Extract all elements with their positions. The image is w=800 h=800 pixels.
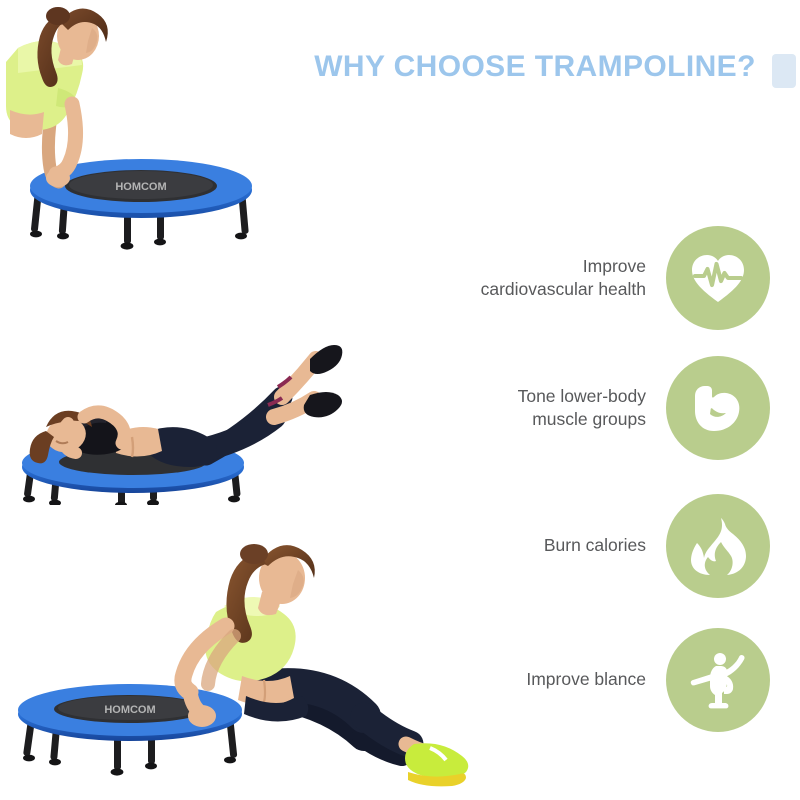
feature-badge-muscle-tone [666,356,770,460]
trampoline-brand-text: HOMCOM [104,704,155,716]
feature-badge-cardiovascular [666,226,770,330]
feature-row-burn-calories: Burn calories [420,494,770,598]
feature-row-balance: Improve blance [420,628,770,732]
photo-pushup-on-trampoline: HOMCOM [0,0,300,250]
infographic-page: WHY CHOOSE TRAMPOLINE? [0,0,800,800]
feature-badge-balance [666,628,770,732]
feature-label-cardiovascular: Improve cardiovascular health [481,255,666,301]
flexed-bicep-icon [687,377,749,439]
feature-label-muscle-tone: Tone lower-body muscle groups [518,385,666,431]
yoga-balance-pose-icon [687,649,749,711]
shoe [310,345,342,374]
photo-crunch-on-trampoline [10,255,390,505]
feature-label-burn-calories: Burn calories [544,534,666,557]
feature-badge-burn-calories [666,494,770,598]
feature-label-balance: Improve blance [526,668,666,691]
page-title: WHY CHOOSE TRAMPOLINE? [300,52,770,82]
feature-row-cardiovascular: Improve cardiovascular health [420,226,770,330]
photo-tricep-dip-on-trampoline: HOMCOM [10,500,490,798]
person-pushup [6,7,108,187]
hand-gripping-pad [188,705,216,727]
heart-pulse-icon [687,247,749,309]
title-accent-block [772,54,796,88]
flame-icon [688,515,748,577]
shoe [405,743,468,778]
person-crunch [30,345,343,467]
trampoline-brand-text: HOMCOM [115,181,166,193]
feature-row-muscle-tone: Tone lower-body muscle groups [420,356,770,460]
